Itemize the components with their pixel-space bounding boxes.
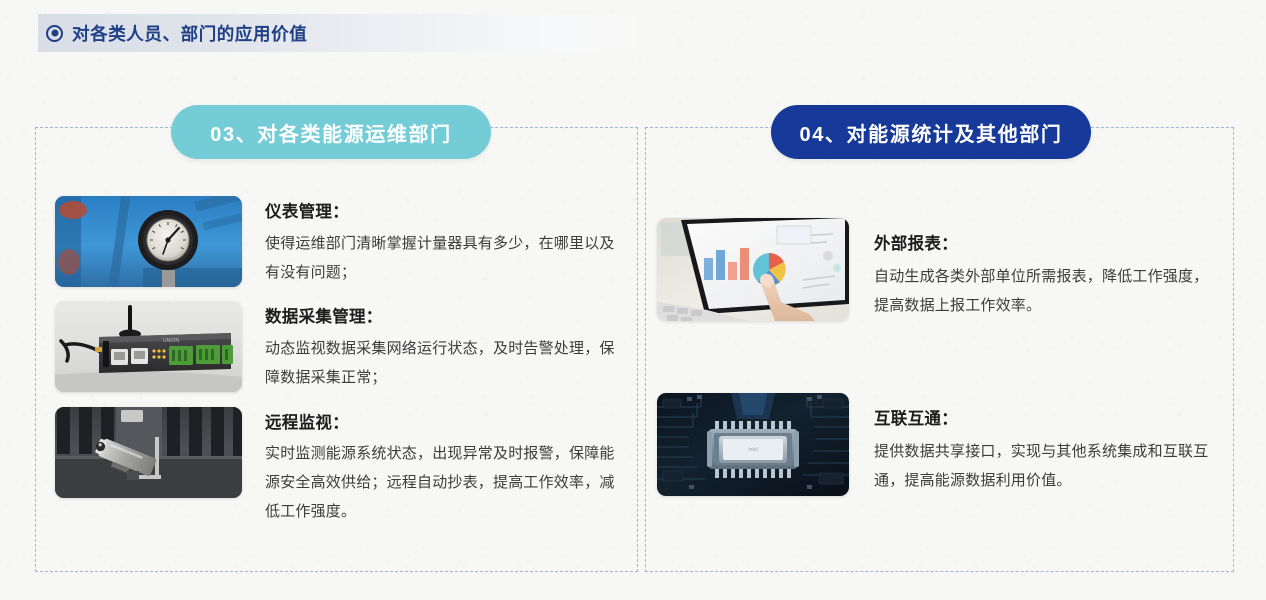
list-item: 仪表管理： 使得运维部门清晰掌握计量器具有多少，在哪里以及有没有问题；: [55, 196, 620, 287]
data-acquisition-gateway-photo: UNION: [55, 301, 242, 392]
pressure-gauge-photo: [55, 196, 242, 287]
surveillance-camera-photo: [55, 407, 242, 498]
panel-03-content: 仪表管理： 使得运维部门清晰掌握计量器具有多少，在哪里以及有没有问题；: [55, 196, 620, 527]
list-item-text: 远程监视： 实时监测能源系统状态，出现异常及时报警，保障能源安全高效供给；远程自…: [265, 407, 620, 527]
list-item-heading: 远程监视：: [265, 411, 620, 436]
panel-03-title-pill: 03、对各类能源运维部门: [171, 105, 491, 159]
circuit-board-chip-photo: Intel: [657, 393, 849, 496]
svg-text:Intel: Intel: [748, 447, 757, 453]
list-item: 外部报表： 自动生成各类外部单位所需报表，降低工作强度，提高数据上报工作效率。: [657, 218, 1222, 321]
list-item-heading: 外部报表：: [874, 232, 1222, 257]
target-circle-icon: [46, 25, 63, 42]
list-item-heading: 仪表管理：: [265, 200, 620, 225]
list-item-body: 动态监视数据采集网络运行状态，及时告警处理，保障数据采集正常；: [265, 335, 620, 393]
list-item-body: 使得运维部门清晰掌握计量器具有多少，在哪里以及有没有问题；: [265, 230, 620, 288]
laptop-charts-photo: [657, 218, 849, 321]
panel-04-content: 外部报表： 自动生成各类外部单位所需报表，降低工作强度，提高数据上报工作效率。: [657, 218, 1222, 496]
list-item: UNION 数据采集管理： 动态监视数据采集网络运行状态，及时告警处理，保障数据…: [55, 301, 620, 392]
list-item-body: 实时监测能源系统状态，出现异常及时报警，保障能源安全高效供给；远程自动抄表，提高…: [265, 440, 620, 526]
list-item-text: 外部报表： 自动生成各类外部单位所需报表，降低工作强度，提高数据上报工作效率。: [874, 218, 1222, 320]
list-item-heading: 数据采集管理：: [265, 305, 620, 330]
page-title: 对各类人员、部门的应用价值: [72, 21, 307, 46]
svg-text:UNION: UNION: [163, 338, 180, 344]
panel-04-title-pill: 04、对能源统计及其他部门: [771, 105, 1091, 159]
list-item-text: 仪表管理： 使得运维部门清晰掌握计量器具有多少，在哪里以及有没有问题；: [265, 196, 620, 287]
list-item: 远程监视： 实时监测能源系统状态，出现异常及时报警，保障能源安全高效供给；远程自…: [55, 407, 620, 527]
list-item-body: 提供数据共享接口，实现与其他系统集成和互联互通，提高能源数据利用价值。: [874, 437, 1222, 496]
list-item-body: 自动生成各类外部单位所需报表，降低工作强度，提高数据上报工作效率。: [874, 262, 1222, 321]
list-item: Intel 互联互通： 提供数据共享接口，实现与其他系统集成和互联互通，提高能源…: [657, 393, 1222, 496]
list-item-heading: 互联互通：: [874, 407, 1222, 432]
section-header: 对各类人员、部门的应用价值: [38, 14, 638, 52]
list-item-text: 互联互通： 提供数据共享接口，实现与其他系统集成和互联互通，提高能源数据利用价值…: [874, 393, 1222, 495]
list-item-text: 数据采集管理： 动态监视数据采集网络运行状态，及时告警处理，保障数据采集正常；: [265, 301, 620, 392]
